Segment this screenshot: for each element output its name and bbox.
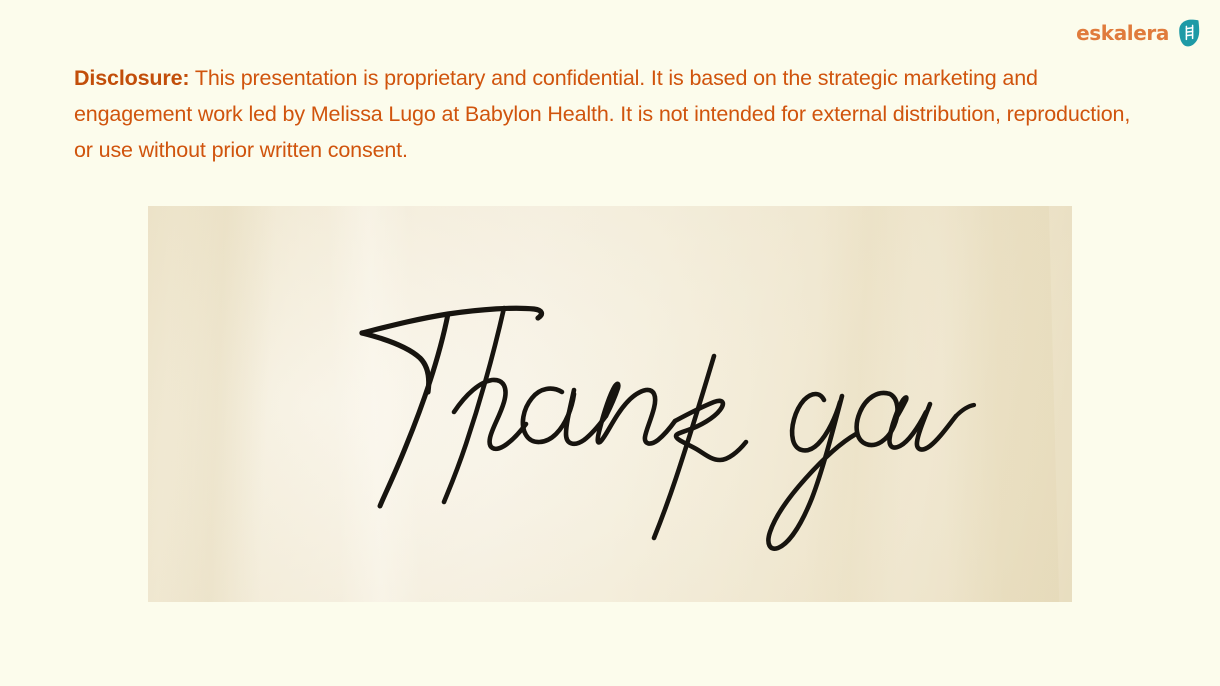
slide-canvas: eskalera Disclosure: This presentation i… xyxy=(0,0,1220,686)
thank-you-script xyxy=(148,206,1072,602)
disclosure-paragraph: Disclosure: This presentation is proprie… xyxy=(74,60,1134,168)
eskalera-leaf-ladder-icon xyxy=(1176,19,1202,47)
eskalera-wordmark: eskalera xyxy=(1076,23,1169,43)
thank-you-image-panel xyxy=(148,206,1072,602)
disclosure-body-text: This presentation is proprietary and con… xyxy=(74,66,1130,162)
disclosure-label: Disclosure: xyxy=(74,66,189,90)
eskalera-logo: eskalera xyxy=(1076,18,1202,48)
